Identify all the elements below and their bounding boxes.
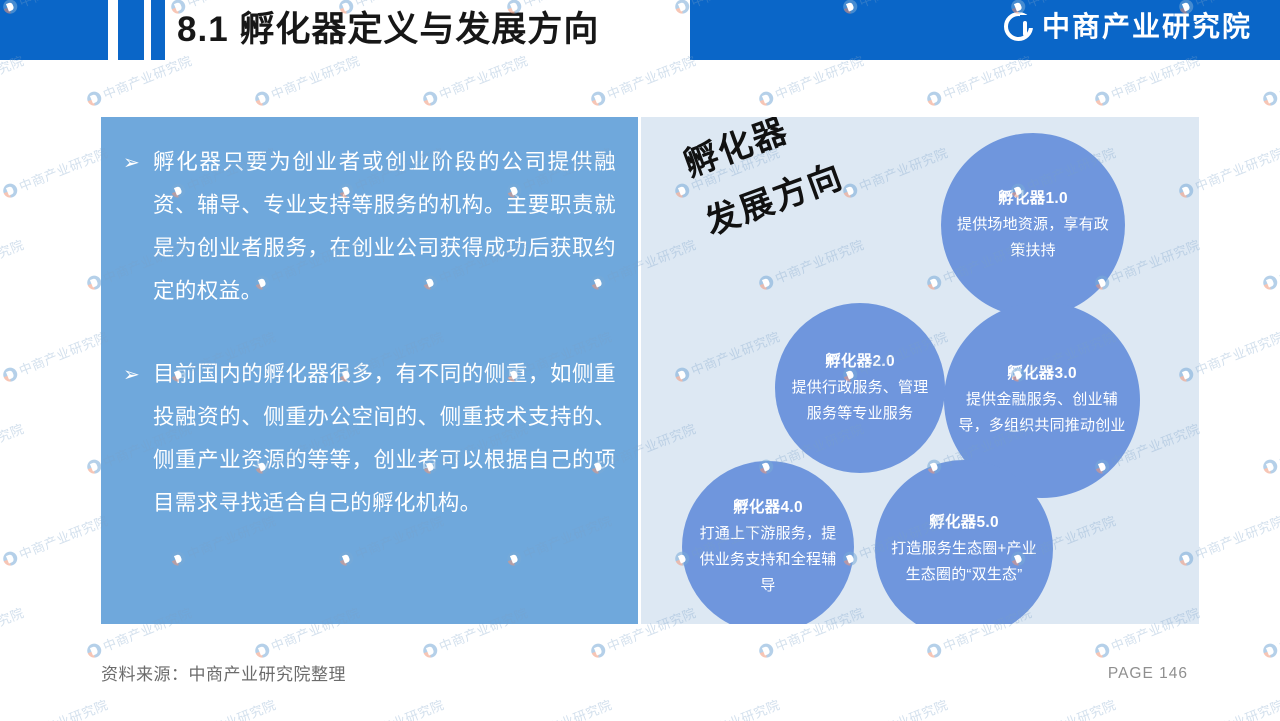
bullet-text: 目前国内的孵化器很多，有不同的侧重，如侧重投融资的、侧重办公空间的、侧重技术支持… [153, 353, 616, 525]
watermark-text: 中商产业研究院 [1024, 694, 1119, 721]
circle-c-logo-icon [925, 641, 943, 659]
watermark-text: 中商产业研究院 [0, 234, 27, 287]
circle-c-logo-icon [253, 641, 271, 659]
circle-c-logo-icon [757, 641, 775, 659]
circle-c-logo-icon [421, 89, 439, 107]
circle-c-logo-icon [589, 89, 607, 107]
stage-title: 孵化器1.0 [998, 186, 1068, 212]
watermark-text: 中商产业研究院 [0, 602, 27, 655]
circle-c-logo-icon [925, 89, 943, 107]
watermark: 中商产业研究院 [0, 510, 111, 569]
watermark-text: 中商产业研究院 [16, 142, 111, 195]
circle-c-logo-icon [85, 641, 103, 659]
watermark: 中商产业研究院 [840, 694, 951, 721]
watermark-text: 中商产业研究院 [604, 50, 699, 103]
header-accent-block-3 [151, 0, 165, 60]
watermark-text: 中商产业研究院 [184, 694, 279, 721]
watermark: 中商产业研究院 [588, 50, 699, 109]
stage-title: 孵化器5.0 [929, 510, 999, 536]
watermark: 中商产业研究院 [0, 694, 111, 721]
circle-c-logo-icon [421, 641, 439, 659]
watermark: 中商产业研究院 [504, 694, 615, 721]
roadmap-panel: 孵化器 发展方向 孵化器1.0 提供场地资源，享有政策扶持 孵化器2.0 提供行… [641, 117, 1199, 624]
definition-panel: ➢ 孵化器只要为创业者或创业阶段的公司提供融资、辅导、专业支持等服务的机构。主要… [101, 117, 638, 624]
slide-canvas: 8.1 孵化器定义与发展方向 中商产业研究院 ➢ 孵化器只要为创业者或创业阶段的… [0, 0, 1280, 721]
watermark-text: 中商产业研究院 [100, 50, 195, 103]
watermark-text: 中商产业研究院 [688, 694, 783, 721]
stage-title: 孵化器2.0 [825, 349, 895, 375]
stage-circle-1[interactable]: 孵化器1.0 提供场地资源，享有政策扶持 [941, 133, 1125, 317]
watermark-text: 中商产业研究院 [1192, 326, 1280, 379]
header-accent-block-1 [0, 0, 108, 60]
watermark-text: 中商产业研究院 [1276, 234, 1280, 287]
watermark: 中商产业研究院 [0, 326, 111, 385]
watermark: 中商产业研究院 [252, 50, 363, 109]
stage-body: 提供金融服务、创业辅导，多组织共同推动创业 [944, 387, 1140, 439]
stage-title: 孵化器4.0 [733, 495, 803, 521]
watermark: 中商产业研究院 [672, 694, 783, 721]
stage-circle-5[interactable]: 孵化器5.0 打造服务生态圈+产业生态圈的“双生态” [875, 460, 1053, 624]
watermark-text: 中商产业研究院 [16, 326, 111, 379]
watermark-text: 中商产业研究院 [1192, 694, 1280, 721]
diagram-title: 孵化器 发展方向 [675, 117, 853, 254]
circle-c-logo-icon [85, 89, 103, 107]
bullet-text: 孵化器只要为创业者或创业阶段的公司提供融资、辅导、专业支持等服务的机构。主要职责… [153, 141, 616, 313]
stage-body: 打通上下游服务，提供业务支持和全程辅导 [682, 521, 854, 599]
watermark: 中商产业研究院 [1260, 234, 1280, 293]
watermark: 中商产业研究院 [336, 694, 447, 721]
circle-c-logo-icon [1261, 457, 1279, 475]
stage-circle-2[interactable]: 孵化器2.0 提供行政服务、管理服务等专业服务 [775, 303, 945, 473]
circle-c-logo-icon [1004, 12, 1033, 41]
watermark-text: 中商产业研究院 [520, 694, 615, 721]
source-note: 资料来源：中商产业研究院整理 [101, 660, 346, 685]
watermark-text: 中商产业研究院 [268, 50, 363, 103]
circle-c-logo-icon [1093, 641, 1111, 659]
watermark: 中商产业研究院 [0, 418, 27, 477]
watermark-text: 中商产业研究院 [352, 694, 447, 721]
circle-c-logo-icon [673, 0, 691, 15]
header-accent-block-2 [118, 0, 144, 60]
circle-c-logo-icon [589, 641, 607, 659]
watermark-text: 中商产业研究院 [0, 418, 27, 471]
circle-c-logo-icon [1, 365, 19, 383]
bullet-item: ➢ 孵化器只要为创业者或创业阶段的公司提供融资、辅导、专业支持等服务的机构。主要… [123, 141, 616, 313]
circle-c-logo-icon [1, 181, 19, 199]
bullet-item: ➢ 目前国内的孵化器很多，有不同的侧重，如侧重投融资的、侧重办公空间的、侧重技术… [123, 353, 616, 525]
watermark: 中商产业研究院 [420, 50, 531, 109]
circle-c-logo-icon [253, 89, 271, 107]
circle-c-logo-icon [757, 89, 775, 107]
circle-c-logo-icon [1261, 641, 1279, 659]
page-number: PAGE 146 [1108, 665, 1188, 683]
stage-title: 孵化器3.0 [1007, 361, 1077, 387]
circle-c-logo-icon [1, 549, 19, 567]
watermark: 中商产业研究院 [1008, 694, 1119, 721]
watermark-text: 中商产业研究院 [16, 694, 111, 721]
watermark: 中商产业研究院 [168, 694, 279, 721]
watermark: 中商产业研究院 [0, 142, 111, 201]
watermark: 中商产业研究院 [1260, 602, 1280, 661]
circle-c-logo-icon [1261, 89, 1279, 107]
bullet-arrow-icon: ➢ [123, 353, 153, 396]
stage-body: 打造服务生态圈+产业生态圈的“双生态” [875, 536, 1053, 588]
watermark: 中商产业研究院 [0, 602, 27, 661]
brand-name: 中商产业研究院 [1042, 13, 1252, 41]
watermark: 中商产业研究院 [1260, 418, 1280, 477]
watermark-text: 中商产业研究院 [1192, 142, 1280, 195]
watermark-text: 中商产业研究院 [436, 50, 531, 103]
watermark-text: 中商产业研究院 [1192, 510, 1280, 563]
stage-circle-4[interactable]: 孵化器4.0 打通上下游服务，提供业务支持和全程辅导 [682, 461, 854, 624]
watermark: 中商产业研究院 [1176, 694, 1280, 721]
watermark-text: 中商产业研究院 [16, 510, 111, 563]
brand-logo: 中商产业研究院 [1004, 12, 1252, 41]
watermark-text: 中商产业研究院 [856, 694, 951, 721]
watermark: 中商产业研究院 [0, 234, 27, 293]
page-title: 8.1 孵化器定义与发展方向 [177, 6, 599, 54]
bullet-arrow-icon: ➢ [123, 141, 153, 184]
watermark-text: 中商产业研究院 [1276, 602, 1280, 655]
stage-body: 提供行政服务、管理服务等专业服务 [775, 375, 945, 427]
stage-body: 提供场地资源，享有政策扶持 [941, 212, 1125, 264]
circle-c-logo-icon [1261, 273, 1279, 291]
circle-c-logo-icon [1093, 89, 1111, 107]
watermark-text: 中商产业研究院 [1276, 418, 1280, 471]
